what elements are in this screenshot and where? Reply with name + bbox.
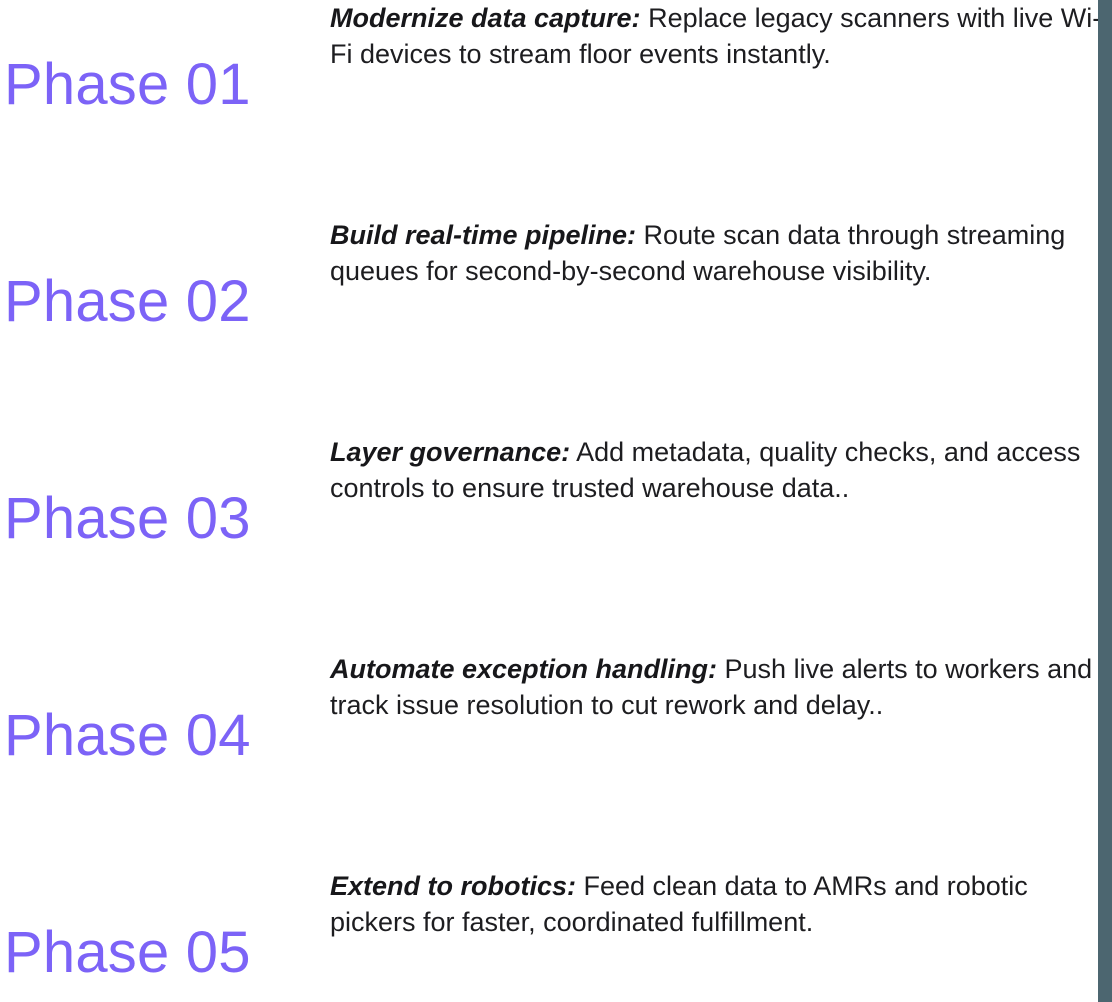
phase-row: Phase 01Modernize data capture: Replace …	[0, 0, 1112, 217]
phase-label-column: Phase 01	[0, 0, 330, 170]
phase-description: Layer governance: Add metadata, quality …	[330, 434, 1112, 506]
phase-description: Build real-time pipeline: Route scan dat…	[330, 217, 1112, 289]
phase-label: Phase 02	[4, 272, 251, 333]
phase-label: Phase 04	[4, 706, 251, 767]
phase-label-column: Phase 04	[0, 651, 330, 821]
scrollbar-thumb[interactable]	[1098, 0, 1112, 1002]
phase-row: Phase 03Layer governance: Add metadata, …	[0, 434, 1112, 651]
phase-label-column: Phase 03	[0, 434, 330, 604]
phase-description-column: Modernize data capture: Replace legacy s…	[330, 0, 1112, 72]
phase-description: Extend to robotics: Feed clean data to A…	[330, 868, 1112, 940]
vertical-scrollbar[interactable]	[1098, 0, 1112, 1002]
phase-description: Modernize data capture: Replace legacy s…	[330, 0, 1112, 72]
phase-label-column: Phase 02	[0, 217, 330, 387]
phase-label: Phase 01	[4, 55, 251, 116]
phase-description-lead: Build real-time pipeline:	[330, 220, 636, 250]
phase-description-column: Build real-time pipeline: Route scan dat…	[330, 217, 1112, 289]
phase-label: Phase 05	[4, 923, 251, 984]
phase-description-lead: Modernize data capture:	[330, 3, 641, 33]
phase-description-column: Layer governance: Add metadata, quality …	[330, 434, 1112, 506]
phase-roadmap-list: Phase 01Modernize data capture: Replace …	[0, 0, 1112, 1002]
phase-description-column: Automate exception handling: Push live a…	[330, 651, 1112, 723]
phase-label-column: Phase 05	[0, 868, 330, 1002]
phase-description-lead: Automate exception handling:	[330, 654, 717, 684]
phase-label: Phase 03	[4, 489, 251, 550]
phase-row: Phase 02Build real-time pipeline: Route …	[0, 217, 1112, 434]
phase-row: Phase 04Automate exception handling: Pus…	[0, 651, 1112, 868]
phase-description-column: Extend to robotics: Feed clean data to A…	[330, 868, 1112, 940]
phase-row: Phase 05Extend to robotics: Feed clean d…	[0, 868, 1112, 1002]
phase-description-lead: Layer governance:	[330, 437, 570, 467]
phase-description: Automate exception handling: Push live a…	[330, 651, 1112, 723]
phase-description-lead: Extend to robotics:	[330, 871, 576, 901]
